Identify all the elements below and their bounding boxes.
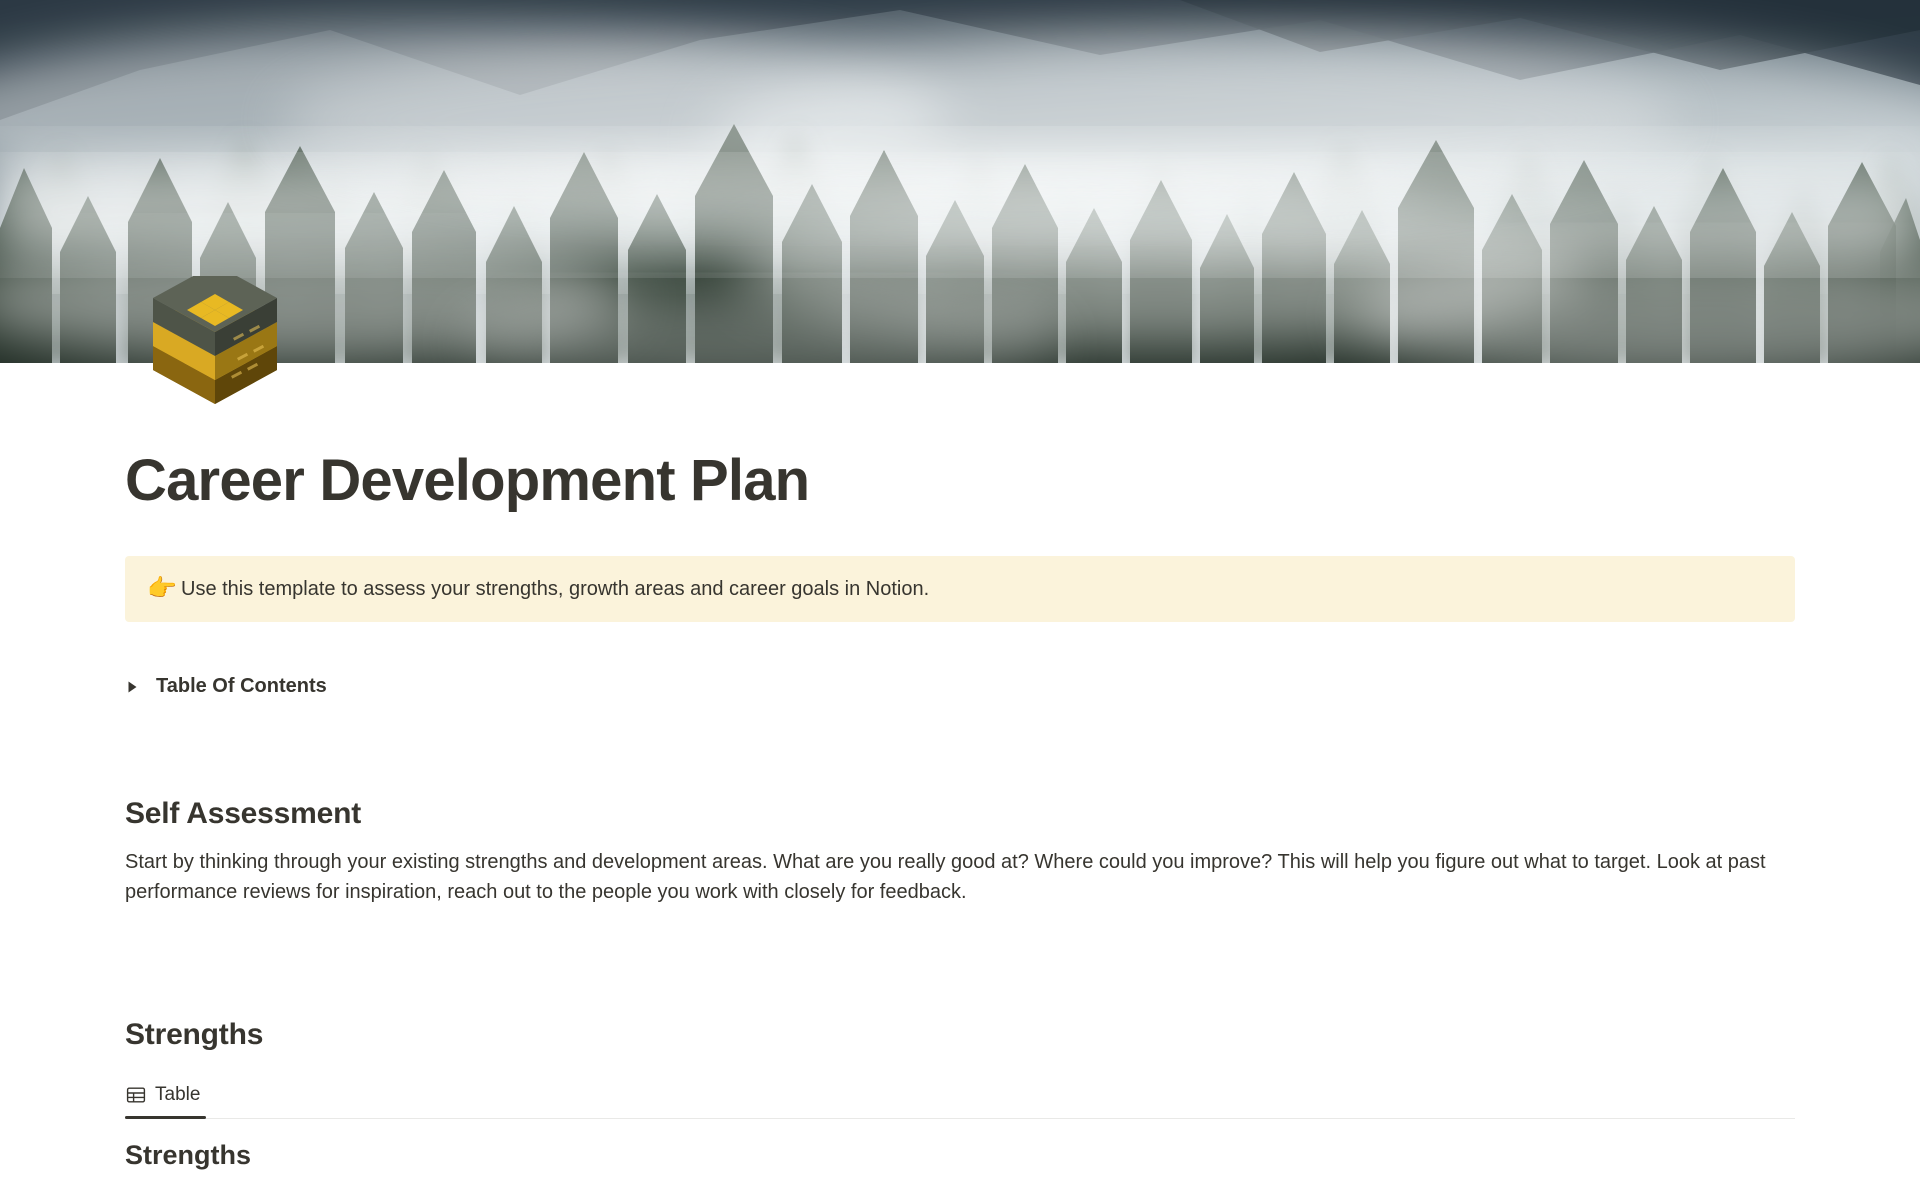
page-content: Career Development Plan 👉 Use this templ… xyxy=(125,363,1795,1171)
callout-text: Use this template to assess your strengt… xyxy=(181,574,929,604)
callout-block[interactable]: 👉 Use this template to assess your stren… xyxy=(125,556,1795,622)
tab-table-view[interactable]: Table xyxy=(125,1073,206,1118)
toggle-label[interactable]: Table Of Contents xyxy=(156,675,327,698)
database-title-strengths[interactable]: Strengths xyxy=(125,1140,1795,1171)
tab-table-label[interactable]: Table xyxy=(155,1084,200,1106)
notion-page: Career Development Plan 👉 Use this templ… xyxy=(0,0,1920,1199)
table-grid-icon xyxy=(125,1084,147,1106)
self-assessment-paragraph[interactable]: Start by thinking through your existing … xyxy=(125,847,1795,908)
pointing-right-hand-emoji: 👉 xyxy=(147,577,181,601)
page-title[interactable]: Career Development Plan xyxy=(125,449,1795,514)
toggle-table-of-contents[interactable]: Table Of Contents xyxy=(125,670,1795,704)
page-icon[interactable] xyxy=(145,276,285,416)
heading-self-assessment[interactable]: Self Assessment xyxy=(125,797,1795,831)
chevron-right-icon[interactable] xyxy=(125,680,153,694)
page-cover-image[interactable] xyxy=(0,0,1920,363)
database-view-tabs: Table xyxy=(125,1073,1795,1119)
heading-strengths[interactable]: Strengths xyxy=(125,1018,1795,1052)
